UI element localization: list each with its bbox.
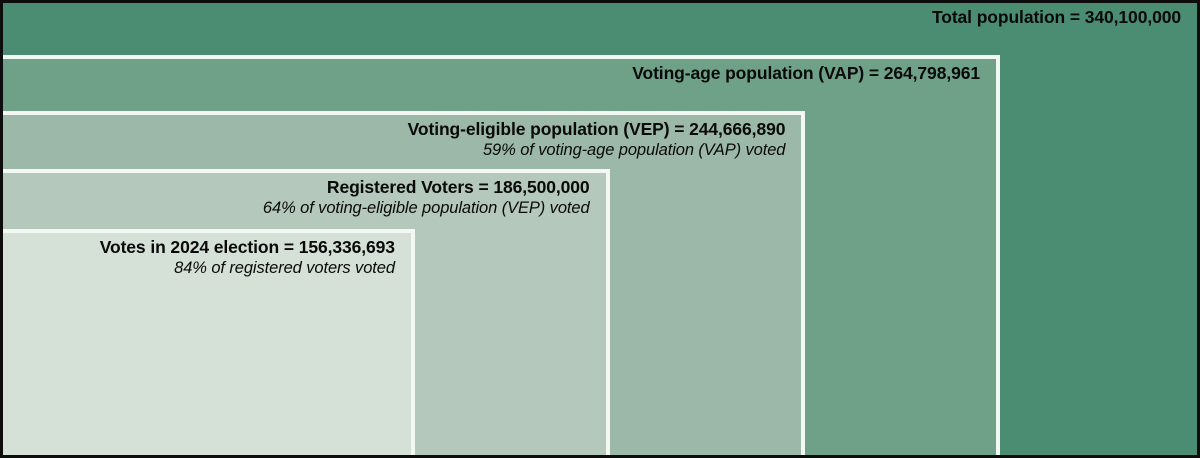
band-votes-in-2024-election: Votes in 2024 election = 156,336,693 84%… bbox=[3, 229, 415, 455]
band-votes-in-2024-election-text: Votes in 2024 election = 156,336,693 84%… bbox=[84, 233, 411, 278]
band-voting-eligible-population-title: Voting-eligible population (VEP) = 244,6… bbox=[408, 119, 786, 140]
band-voting-eligible-population-text: Voting-eligible population (VEP) = 244,6… bbox=[392, 115, 802, 160]
band-registered-voters-note: 64% of voting-eligible population (VEP) … bbox=[263, 199, 590, 218]
band-registered-voters-text: Registered Voters = 186,500,000 64% of v… bbox=[247, 173, 606, 218]
band-votes-in-2024-election-title: Votes in 2024 election = 156,336,693 bbox=[100, 237, 395, 258]
nested-population-funnel-chart: Total population = 340,100,000 Voting-ag… bbox=[0, 0, 1200, 458]
band-total-population-text: Total population = 340,100,000 bbox=[916, 3, 1197, 28]
band-voting-age-population-text: Voting-age population (VAP) = 264,798,96… bbox=[616, 59, 996, 84]
band-votes-in-2024-election-note: 84% of registered voters voted bbox=[100, 259, 395, 278]
band-registered-voters-title: Registered Voters = 186,500,000 bbox=[263, 177, 590, 198]
band-total-population-title: Total population = 340,100,000 bbox=[932, 7, 1181, 28]
band-voting-age-population-title: Voting-age population (VAP) = 264,798,96… bbox=[632, 63, 980, 84]
band-voting-eligible-population-note: 59% of voting-age population (VAP) voted bbox=[408, 141, 786, 160]
